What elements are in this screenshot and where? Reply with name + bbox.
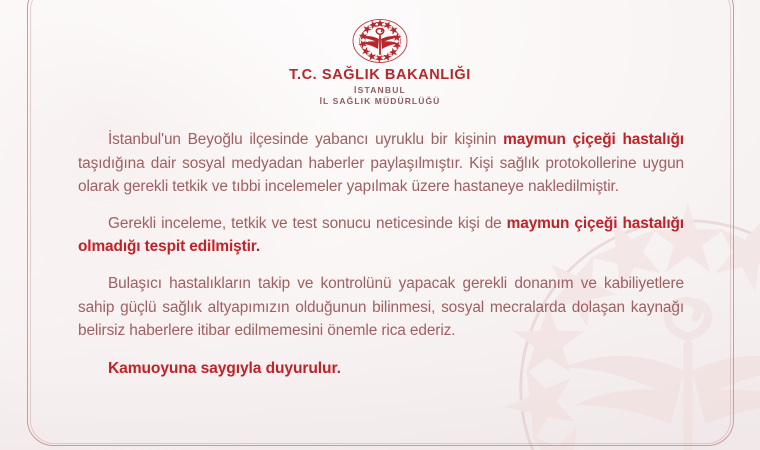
- organization-department: İL SAĞLIK MÜDÜRLÜĞÜ: [0, 96, 760, 107]
- announcement-paragraph: Gerekli inceleme, tetkik ve test sonucu …: [78, 212, 684, 259]
- turkish-health-ministry-emblem-icon: [342, 18, 418, 64]
- paragraph-text: Bulaşıcı hastalıkların takip ve kontrolü…: [78, 275, 684, 339]
- announcement-poster: T.C. SAĞLIK BAKANLIĞI İSTANBUL İL SAĞLIK…: [0, 0, 760, 450]
- announcement-paragraph: İstanbul'un Beyoğlu ilçesinde yabancı uy…: [78, 128, 684, 199]
- announcement-paragraph: Bulaşıcı hastalıkların takip ve kontrolü…: [78, 272, 684, 343]
- announcement-body: İstanbul'un Beyoğlu ilçesinde yabancı uy…: [78, 128, 684, 378]
- paragraph-text: İstanbul'un Beyoğlu ilçesinde yabancı uy…: [108, 131, 503, 148]
- highlighted-phrase: maymun çiçeği hastalığı: [503, 131, 684, 148]
- paragraph-text: Gerekli inceleme, tetkik ve test sonucu …: [108, 215, 507, 232]
- poster-header: T.C. SAĞLIK BAKANLIĞI İSTANBUL İL SAĞLIK…: [0, 18, 760, 107]
- closing-text: Kamuoyuna saygıyla duyurulur.: [108, 360, 341, 377]
- announcement-paragraphs: İstanbul'un Beyoğlu ilçesinde yabancı uy…: [78, 128, 684, 343]
- organization-name: T.C. SAĞLIK BAKANLIĞI: [0, 68, 760, 84]
- organization-city: İSTANBUL: [0, 85, 760, 96]
- closing-line: Kamuoyuna saygıyla duyurulur.: [78, 360, 684, 378]
- paragraph-text: taşıdığına dair sosyal medyadan haberler…: [78, 155, 684, 196]
